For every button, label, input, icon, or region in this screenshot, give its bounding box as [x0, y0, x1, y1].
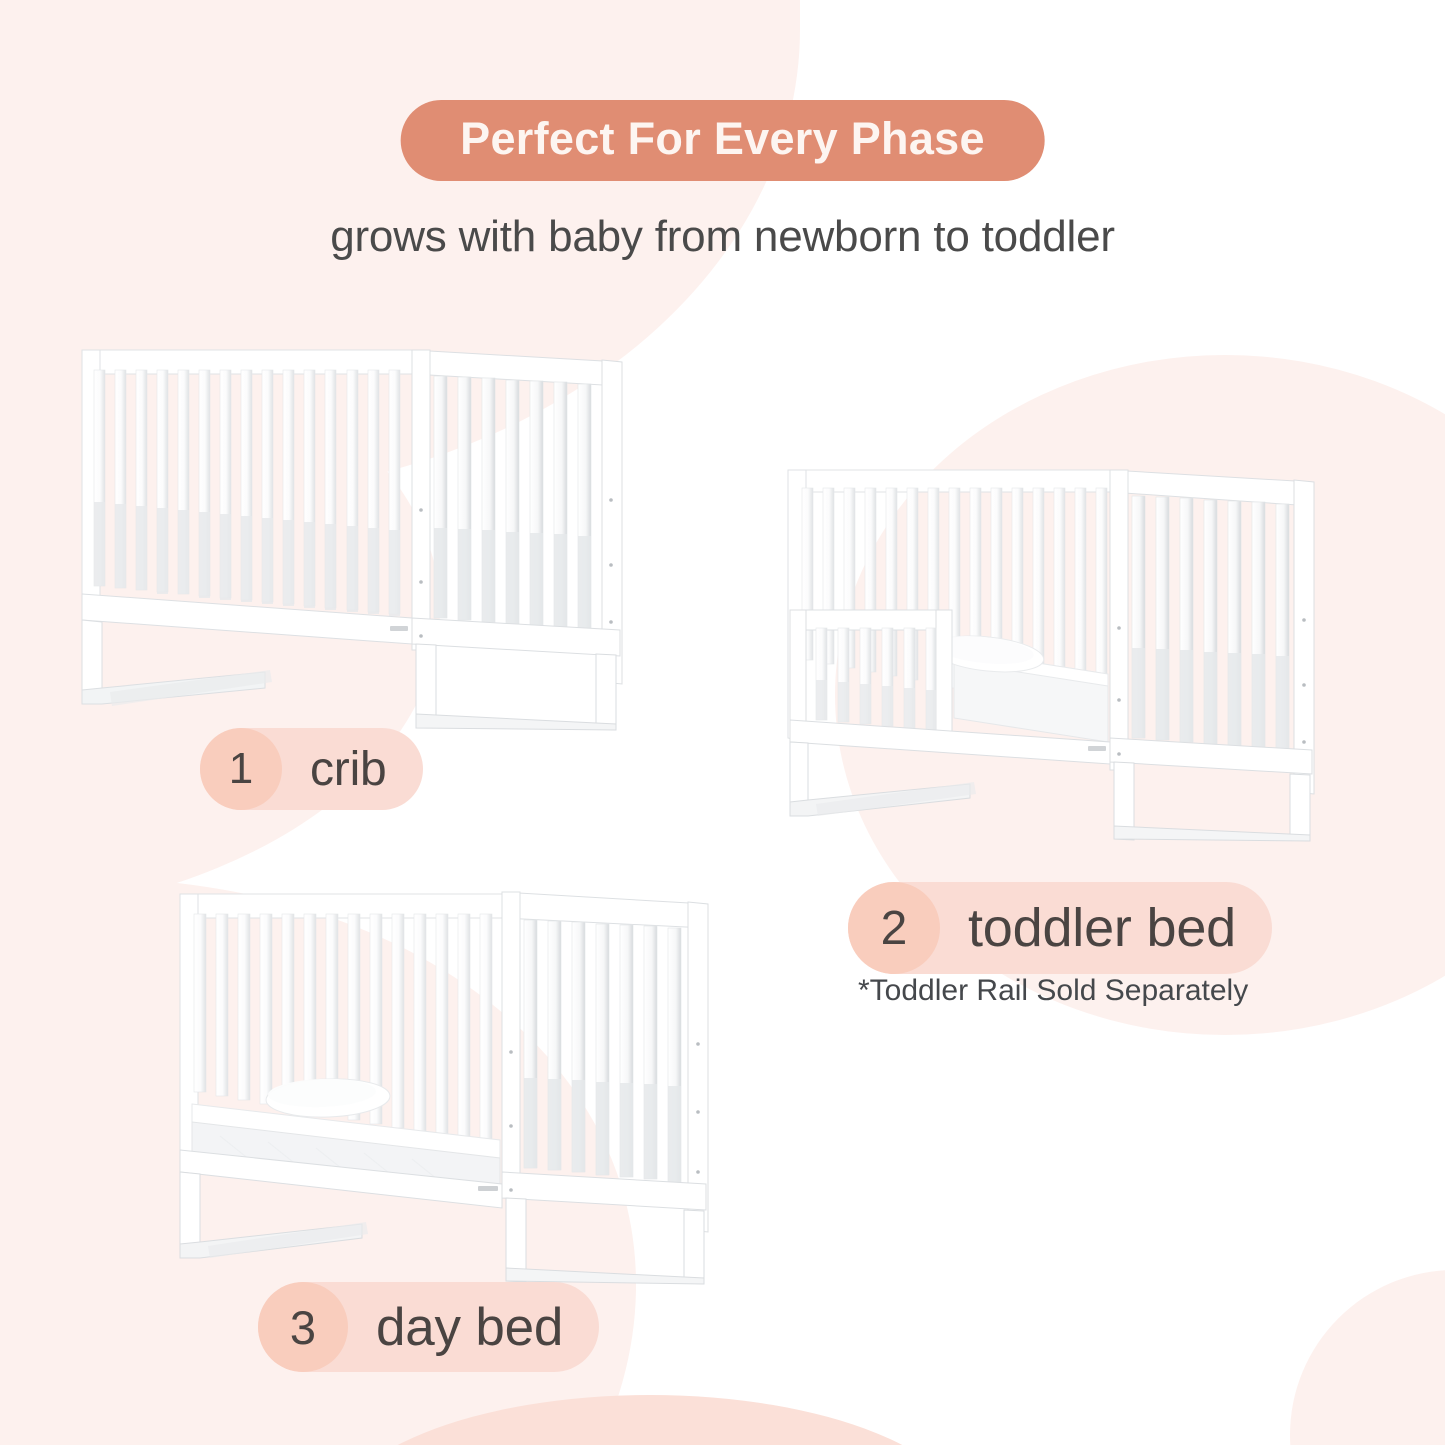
phase-number-2: 2 [848, 882, 940, 974]
phase-label-2: toddler bed [940, 897, 1236, 959]
phase-badge-day-bed: 3 day bed [258, 1282, 599, 1372]
infographic-page: Perfect For Every Phase grows with baby … [0, 0, 1445, 1445]
page-subtitle: grows with baby from newborn to toddler [330, 212, 1115, 262]
background-blob-bottom-right [1290, 1270, 1445, 1445]
page-title-pill: Perfect For Every Phase [400, 100, 1045, 181]
background-blob-bottom-middle [330, 1395, 970, 1445]
phase-number-1: 1 [200, 728, 282, 810]
phase-number-3: 3 [258, 1282, 348, 1372]
toddler-bed-illustration [770, 442, 1330, 842]
day-bed-illustration [150, 872, 730, 1292]
toddler-rail-footnote: *Toddler Rail Sold Separately [858, 974, 1248, 1008]
phase-label-1: crib [282, 742, 387, 797]
crib-illustration [60, 332, 640, 732]
phase-badge-crib: 1 crib [200, 728, 423, 810]
phase-badge-toddler-bed: 2 toddler bed [848, 882, 1272, 974]
phase-label-3: day bed [348, 1297, 563, 1358]
